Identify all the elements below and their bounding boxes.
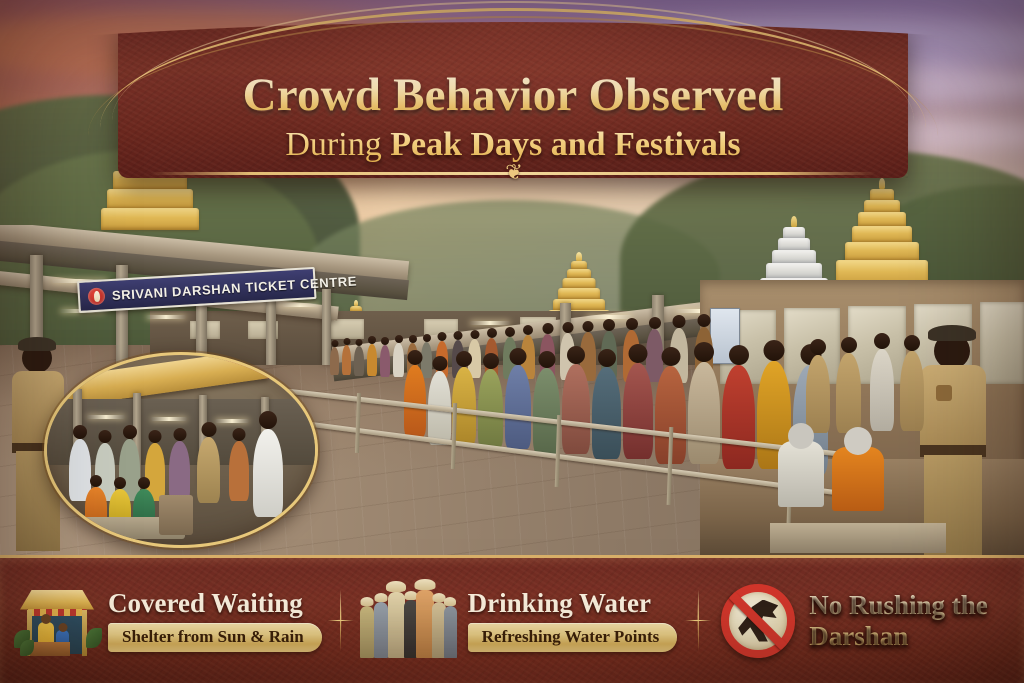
seated-devotees xyxy=(778,433,938,553)
sparkle-separator-icon xyxy=(685,589,711,653)
fleuron-ornament-icon: ❦ xyxy=(505,162,521,183)
feature-title: Covered Waiting xyxy=(108,589,322,617)
shelter-kiosk-icon xyxy=(18,584,96,658)
no-rushing-icon xyxy=(721,584,795,658)
feature-drinking-water[interactable]: Drinking Water Refreshing Water Points xyxy=(360,558,678,683)
covered-waiting-inset-photo xyxy=(44,352,318,548)
ceiling-light xyxy=(146,315,186,319)
feature-footer-bar: Covered Waiting Shelter from Sun & Rain xyxy=(0,555,1024,683)
ceiling-light xyxy=(470,321,510,325)
hall-window xyxy=(330,319,364,339)
temple-emblem-icon xyxy=(87,287,105,305)
title-block: Crowd Behavior Observed During Peak Days… xyxy=(118,22,908,178)
subtitle-light-part: During xyxy=(285,126,390,163)
page-subtitle: During Peak Days and Festivals xyxy=(118,126,908,164)
feature-caption-pill: Shelter from Sun & Rain xyxy=(108,623,322,652)
sparkle-separator-icon xyxy=(328,589,354,653)
ceiling-light xyxy=(282,303,318,307)
page-title: Crowd Behavior Observed xyxy=(118,68,908,122)
feature-no-rushing[interactable]: No Rushing the Darshan xyxy=(721,558,1019,683)
feature-title: No Rushing the Darshan xyxy=(809,590,1019,650)
feature-caption-pill: Refreshing Water Points xyxy=(468,623,678,652)
feature-title: Drinking Water xyxy=(468,589,678,617)
subtitle-bold-part: Peak Days and Festivals xyxy=(390,126,740,163)
feature-covered-waiting[interactable]: Covered Waiting Shelter from Sun & Rain xyxy=(0,558,322,683)
queue-complex-photo: SRIVANI DARSHAN TICKET CENTRE xyxy=(0,225,1024,555)
poster-root: SRIVANI DARSHAN TICKET CENTRE xyxy=(0,0,1024,683)
sign-text: SRIVANI DARSHAN TICKET CENTRE xyxy=(111,273,357,303)
pilgrim-group-icon xyxy=(360,584,456,658)
